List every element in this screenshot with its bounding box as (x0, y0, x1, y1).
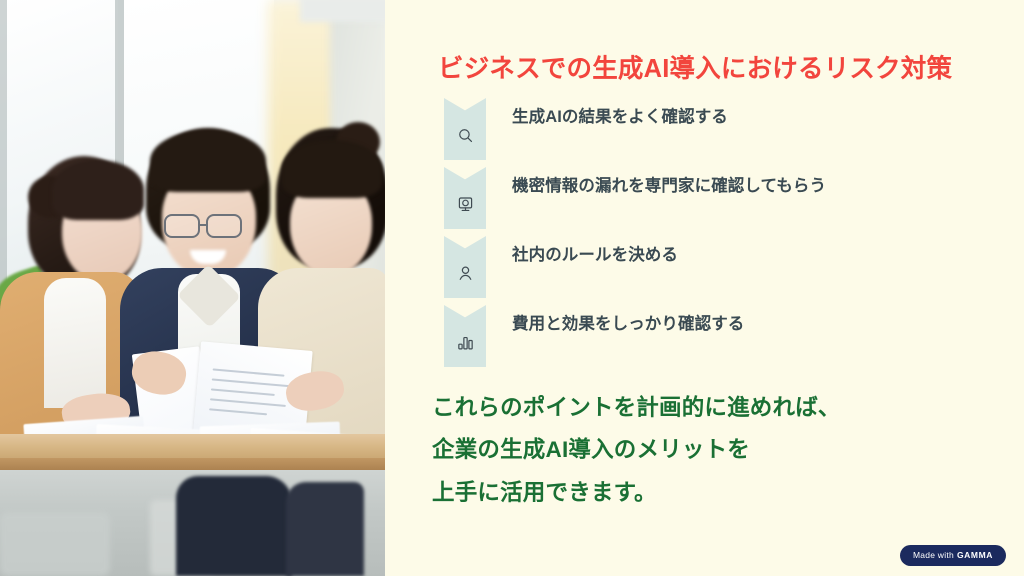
step-icon-badge (444, 305, 486, 367)
closing-line-2: 企業の生成AI導入のメリットを (432, 429, 972, 471)
list-item[interactable]: 費用と効果をしっかり確認する (393, 305, 953, 374)
hero-photo (0, 0, 385, 576)
user-icon (457, 253, 474, 282)
person-left-top (44, 278, 106, 408)
glasses-lens-right (206, 214, 242, 238)
closing-line-3: 上手に活用できます。 (432, 472, 972, 514)
glasses-bridge (199, 224, 208, 226)
closing-statement: これらのポイントを計画的に進めれば、 企業の生成AI導入のメリットを 上手に活用… (432, 387, 972, 514)
search-icon (457, 115, 474, 144)
badge-brand-label: GAMMA (957, 550, 993, 560)
person-right-legs (286, 482, 364, 576)
list-item-label: 生成AIの結果をよく確認する (512, 107, 728, 128)
slide: ビジネスでの生成AI導入におけるリスク対策 生成AIの結果をよく確認する (0, 0, 1024, 576)
list-item-label: 機密情報の漏れを専門家に確認してもらう (512, 176, 826, 197)
page-title: ビジネスでの生成AI導入におけるリスク対策 (438, 48, 983, 85)
chair-left (0, 512, 110, 576)
step-icon-badge (444, 98, 486, 160)
made-with-gamma-badge[interactable]: Made with GAMMA (900, 545, 1006, 566)
glasses-lens-left (164, 214, 200, 238)
badge-prefix-label: Made with (913, 550, 954, 560)
list-item[interactable]: 機密情報の漏れを専門家に確認してもらう (393, 167, 953, 236)
closing-line-1: これらのポイントを計画的に進めれば、 (432, 387, 972, 429)
person-center-legs (176, 476, 292, 576)
list-item[interactable]: 社内のルールを決める (393, 236, 953, 305)
person-right-fringe (282, 140, 382, 198)
photo-ceiling (300, 0, 385, 22)
list-item-label: 社内のルールを決める (512, 245, 678, 266)
bar-chart-icon (457, 322, 474, 351)
step-icon-badge (444, 167, 486, 229)
list-item[interactable]: 生成AIの結果をよく確認する (393, 98, 953, 167)
person-left-fringe (52, 160, 144, 220)
risk-measures-list: 生成AIの結果をよく確認する 機密情報の漏れを専門家に確認してもらう (393, 98, 953, 374)
list-item-label: 費用と効果をしっかり確認する (512, 314, 744, 335)
content-panel: ビジネスでの生成AI導入におけるリスク対策 生成AIの結果をよく確認する (385, 0, 1024, 576)
monitor-icon (457, 184, 474, 213)
table-surface (0, 434, 385, 460)
person-center-fringe (150, 130, 266, 192)
step-icon-badge (444, 236, 486, 298)
